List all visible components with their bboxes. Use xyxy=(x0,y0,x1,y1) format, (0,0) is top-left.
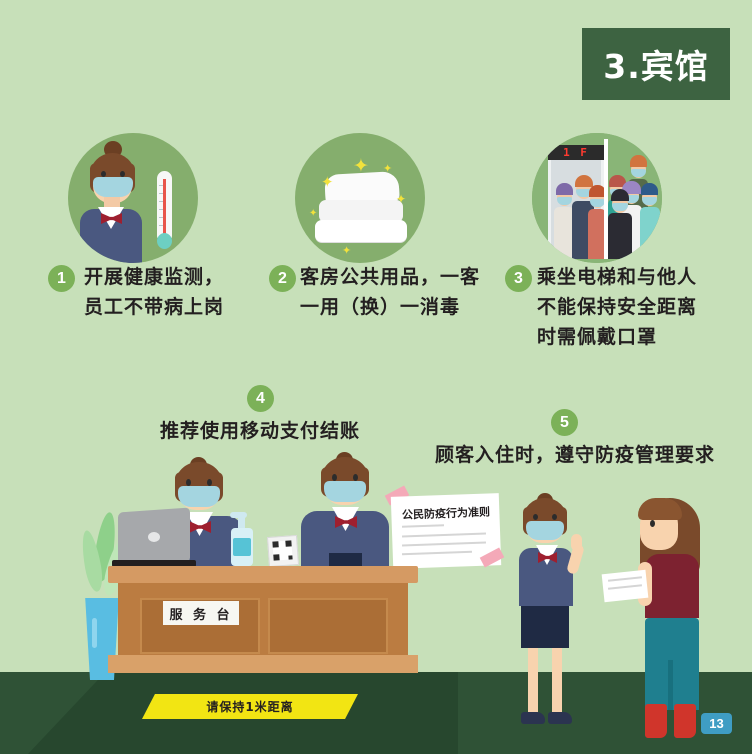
face-mask-shape xyxy=(324,481,366,502)
folded-towels-icon: ✦ ✦ ✦ ✦ ✦ ✦ xyxy=(295,133,425,263)
tip-text-3: 乘坐电梯和与他人 不能保持安全距离 时需佩戴口罩 xyxy=(537,262,737,352)
tip-number-5: 5 xyxy=(551,409,578,436)
eye-shape xyxy=(650,520,655,527)
service-desk-base xyxy=(108,655,418,673)
hair-top-shape xyxy=(638,498,682,520)
tip-number-3: 3 xyxy=(505,265,532,292)
eye-left-shape xyxy=(332,474,337,481)
section-title-banner: 3.宾馆 xyxy=(582,28,730,100)
tip-text-2: 客房公共用品，一客 一用（换）一消毒 xyxy=(300,262,510,322)
qr-code-icon xyxy=(272,540,292,560)
sparkle-icon: ✦ xyxy=(353,157,369,176)
tip-number-2: 2 xyxy=(269,265,296,292)
face-mask-shape xyxy=(526,521,564,540)
eye-right-shape xyxy=(552,514,557,520)
page-title: 3.宾馆 xyxy=(603,40,709,88)
infographic-poster: 3.宾馆 ✦ ✦ ✦ ✦ ✦ ✦ xyxy=(0,0,752,754)
thermometer-bulb xyxy=(157,233,172,249)
plant-pot-highlight xyxy=(92,618,97,648)
person-hair xyxy=(575,175,593,187)
leg-shape xyxy=(552,648,562,714)
face-mask-shape xyxy=(612,203,628,211)
person-body xyxy=(608,213,632,259)
tip-text-1: 开展健康监测， 员工不带病上岗 xyxy=(84,262,274,322)
elevator-floor-display: 1 F xyxy=(548,145,604,160)
person-body xyxy=(640,207,660,259)
person-hair xyxy=(641,183,658,195)
page-number-badge: 13 xyxy=(701,713,732,734)
uniform-skirt-shape xyxy=(521,606,569,648)
sanitizer-label xyxy=(233,538,251,556)
thermometer-mercury xyxy=(163,179,166,237)
sparkle-icon: ✦ xyxy=(342,246,351,257)
sparkle-icon: ✦ xyxy=(321,175,334,190)
guest-top-shape xyxy=(645,554,699,618)
eye-right-shape xyxy=(207,479,212,486)
shoe-shape xyxy=(548,712,572,724)
boot-shape xyxy=(674,704,696,738)
service-desk-sign: 服 务 台 xyxy=(163,601,239,625)
wall-poster-title: 公民防疫行为准则 xyxy=(402,503,495,522)
laptop-logo xyxy=(148,532,160,542)
face-mask-shape xyxy=(93,177,133,197)
sparkle-icon: ✦ xyxy=(396,193,406,205)
sanitizer-pump xyxy=(238,514,245,529)
service-desk-top xyxy=(108,566,418,583)
person-hair xyxy=(611,189,629,201)
eye-left-shape xyxy=(186,479,191,486)
jeans-seam xyxy=(668,660,673,710)
thumb-up-icon xyxy=(571,534,582,551)
desk-panel-right xyxy=(268,598,388,654)
tip-text-4: 推荐使用移动支付结账 xyxy=(120,416,400,443)
face-mask-shape xyxy=(178,486,220,507)
sparkle-icon: ✦ xyxy=(383,164,392,175)
distance-marker-text: 请保持1米距离 xyxy=(206,698,293,715)
tip-text-5: 顾客入住时，遵守防疫管理要求 xyxy=(415,440,735,467)
shoe-shape xyxy=(521,712,545,724)
towel-middle-shape xyxy=(319,200,403,222)
towel-bottom-shape xyxy=(315,220,407,242)
eye-right-shape xyxy=(353,474,358,481)
staff-thermometer-icon xyxy=(68,133,198,263)
leg-shape xyxy=(528,648,538,714)
person-body xyxy=(554,207,574,259)
eye-left-shape xyxy=(533,514,538,520)
boot-shape xyxy=(645,704,667,738)
person-hair xyxy=(630,155,647,167)
tip-number-1: 1 xyxy=(48,265,75,292)
crowded-elevator-icon: 1 F xyxy=(532,133,662,263)
tip-number-4: 4 xyxy=(247,385,274,412)
distance-floor-marker: 请保持1米距离 xyxy=(142,694,358,719)
sparkle-icon: ✦ xyxy=(309,209,317,219)
person-hair xyxy=(556,183,573,195)
